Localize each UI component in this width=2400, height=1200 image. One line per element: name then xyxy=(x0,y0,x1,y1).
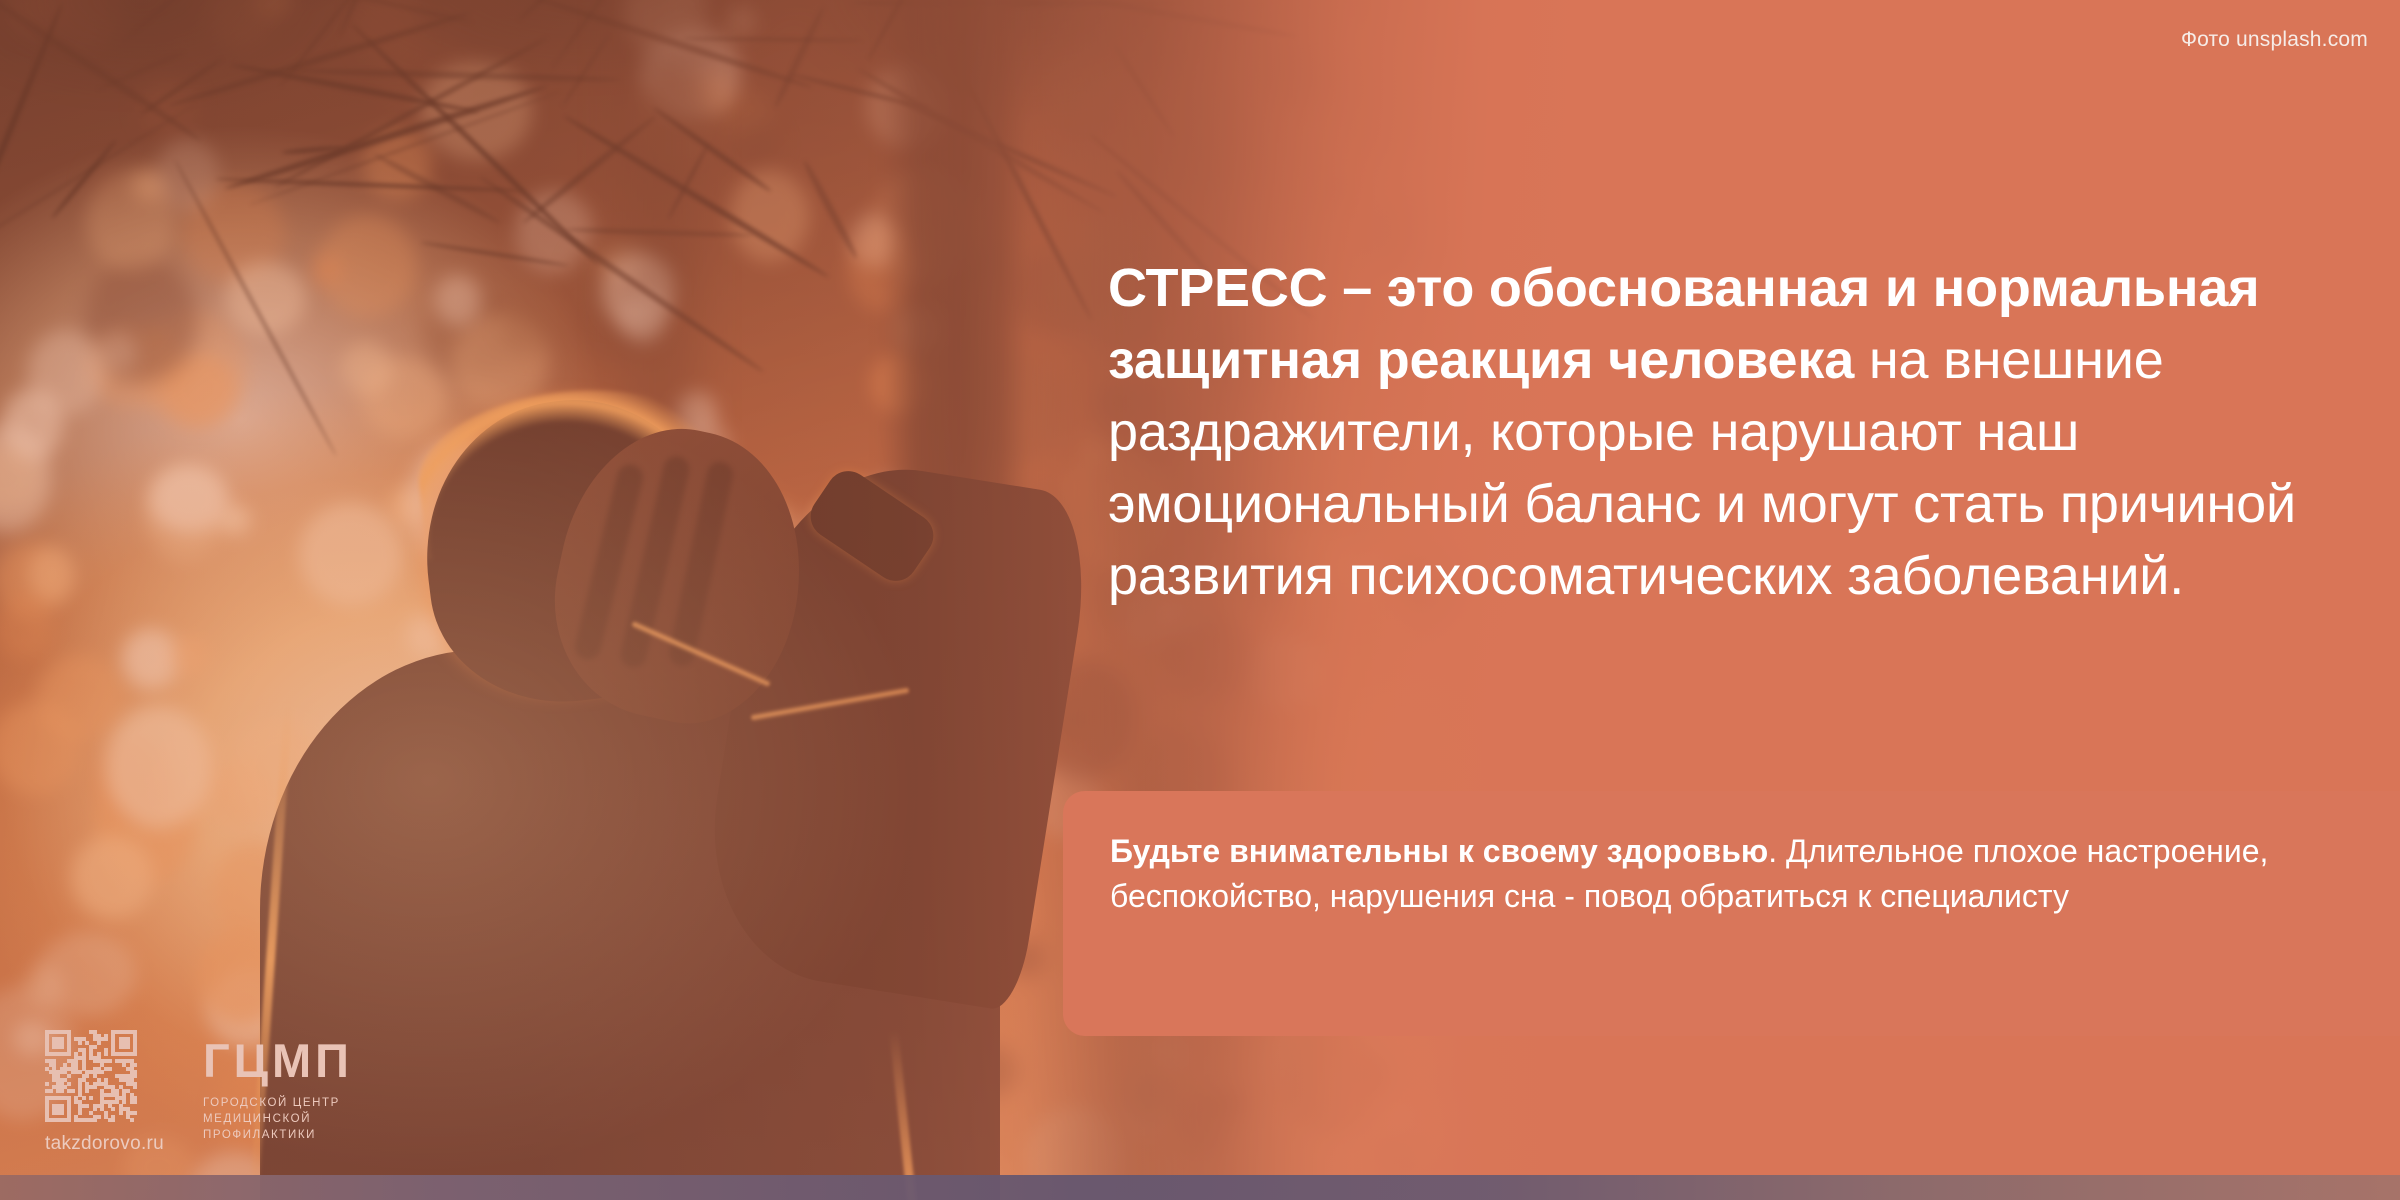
website-url: takzdorovo.ru xyxy=(45,1133,164,1155)
logo-block: takzdorovo.ru ГЦМП ГОРОДСКОЙ ЦЕНТР МЕДИЦ… xyxy=(45,1030,465,1170)
photo-credit: Фото unsplash.com xyxy=(2181,28,2368,52)
qr-code-icon[interactable] xyxy=(45,1030,137,1122)
gcmp-subtitle-line-1: ГОРОДСКОЙ ЦЕНТР xyxy=(203,1095,353,1111)
gcmp-mark: ГЦМП xyxy=(203,1036,353,1086)
callout-text: Будьте внимательны к своему здоровью. Дл… xyxy=(1110,829,2290,919)
gcmp-subtitle: ГОРОДСКОЙ ЦЕНТР МЕДИЦИНСКОЙ ПРОФИЛАКТИКИ xyxy=(203,1095,353,1143)
callout-bold: Будьте внимательны к своему здоровью xyxy=(1110,833,1768,869)
poster-canvas: Фото unsplash.com СТРЕСС – это обоснован… xyxy=(0,0,2400,1200)
bottom-strip xyxy=(0,1175,2400,1200)
callout-box: Будьте внимательны к своему здоровью. Дл… xyxy=(1063,791,2400,1036)
gcmp-subtitle-line-2: МЕДИЦИНСКОЙ xyxy=(203,1111,353,1127)
gcmp-subtitle-line-3: ПРОФИЛАКТИКИ xyxy=(203,1127,353,1143)
headline-text: СТРЕСС – это обоснованная и нормальная з… xyxy=(1108,252,2378,612)
gcmp-logo: ГЦМП ГОРОДСКОЙ ЦЕНТР МЕДИЦИНСКОЙ ПРОФИЛА… xyxy=(203,1036,353,1143)
